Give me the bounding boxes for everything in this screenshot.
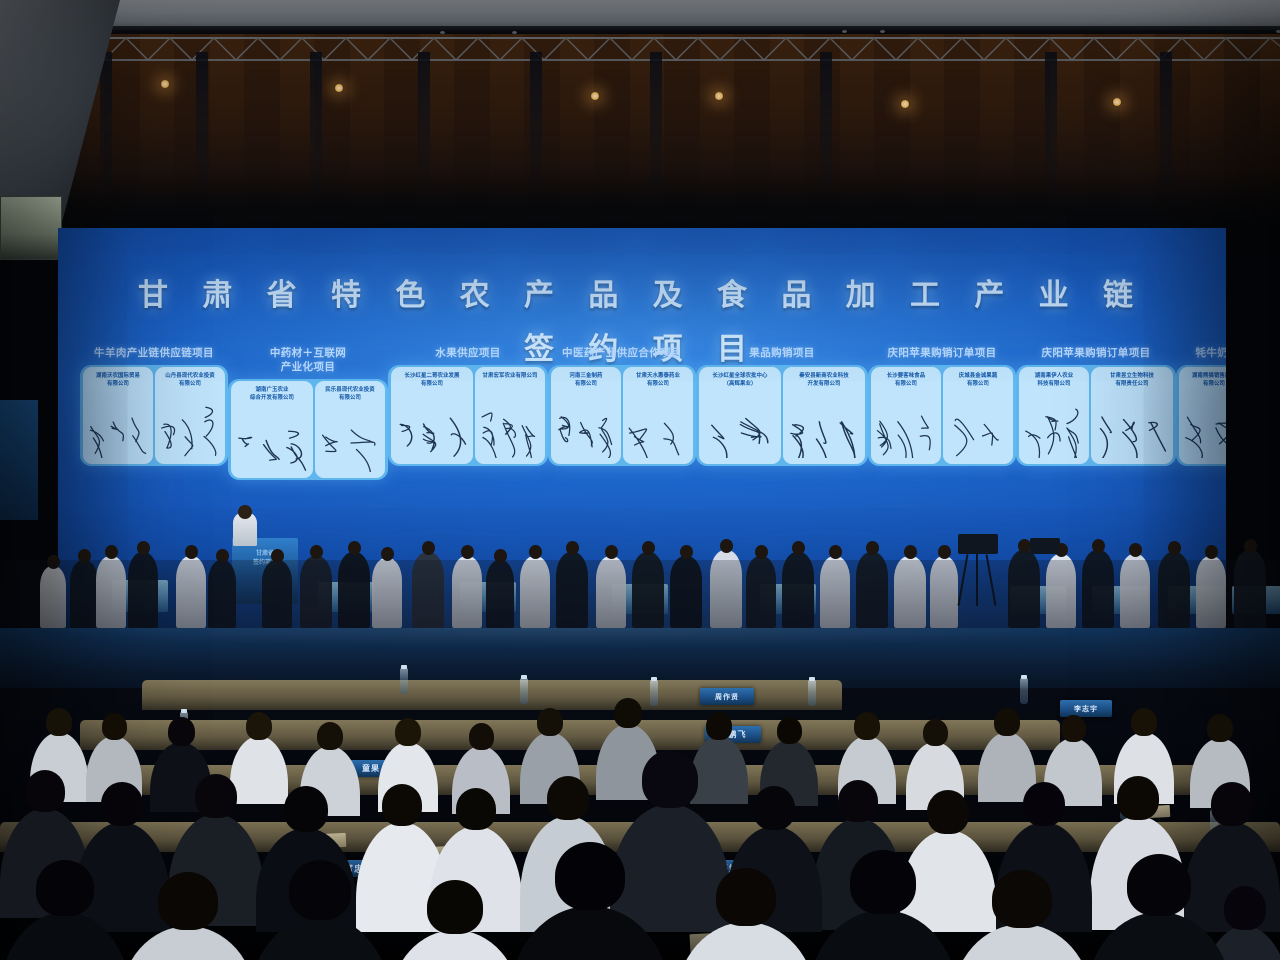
audience-person-head bbox=[469, 723, 494, 750]
stage-person-head bbox=[566, 541, 579, 555]
stage-person-head bbox=[755, 545, 768, 559]
company-name: 长沙要客味食品 有限公司 bbox=[884, 367, 928, 389]
audience-person-head bbox=[46, 708, 72, 736]
company-name: 甘肃天水惠泰药业 有限公司 bbox=[633, 367, 683, 389]
signature-pane: 湖南广玉农业 综合开发有限公司 bbox=[231, 381, 313, 478]
signature-card: 湖南果伊人农业 科技有限公司 甘肃昱立生物科技 有限责任公司 bbox=[1016, 365, 1176, 466]
handwritten-signature bbox=[871, 406, 941, 458]
group-title: 庆阳苹果购销订单项目 bbox=[1042, 346, 1151, 360]
stage-light-icon bbox=[334, 84, 344, 92]
audience-person-head bbox=[1224, 886, 1266, 930]
stage-person-head bbox=[938, 545, 951, 559]
audience-person-head bbox=[850, 850, 916, 914]
signing-group: 庆阳苹果购销订单项目湖南果伊人农业 科技有限公司 甘肃昱立生物科技 有限责任公司 bbox=[1016, 346, 1176, 466]
stage-person-head bbox=[348, 541, 361, 555]
handwritten-signature bbox=[1019, 406, 1089, 458]
company-name: 秦安县新商农业科技 开发有限公司 bbox=[796, 367, 851, 389]
handwritten-signature bbox=[623, 406, 693, 458]
signature-pane: 湖南沃农国际贸易 有限公司 bbox=[83, 367, 153, 464]
signature-card: 湖南广玉农业 综合开发有限公司 民乐县现代农业投资 有限公司 bbox=[228, 379, 388, 480]
ceiling-fixture-icon bbox=[842, 30, 847, 33]
audience-person-head bbox=[547, 776, 589, 820]
audience-person-head bbox=[716, 868, 776, 926]
drape bbox=[196, 52, 208, 192]
bottle-cap bbox=[401, 665, 407, 669]
stage-person-head bbox=[904, 545, 917, 559]
company-name: 湖南熊猫销售服务 有限公司 bbox=[1189, 367, 1226, 389]
audience-area: 童果姚富忠张靖曾鹏飞周作贤杨晓阳李志宇 bbox=[0, 560, 1280, 960]
signature-pane: 甘肃昱立生物科技 有限责任公司 bbox=[1091, 367, 1173, 464]
audience-person-head bbox=[246, 712, 272, 740]
signature-pane: 民乐县现代农业投资 有限公司 bbox=[315, 381, 385, 478]
audience-person-head bbox=[753, 786, 795, 830]
signature-pane: 湖南熊猫销售服务 有限公司 bbox=[1179, 367, 1226, 464]
handwritten-signature bbox=[1091, 406, 1173, 458]
handwritten-signature bbox=[315, 420, 385, 472]
drape bbox=[650, 52, 662, 192]
stage-person-head bbox=[792, 541, 805, 555]
drape bbox=[530, 52, 542, 192]
water-bottle bbox=[1020, 678, 1028, 704]
stage-light-icon bbox=[160, 80, 170, 88]
company-name: 河南三金制药 有限公司 bbox=[567, 367, 606, 389]
water-bottle bbox=[808, 680, 816, 706]
stage-light-icon bbox=[900, 100, 910, 108]
company-name: 湖南果伊人农业 科技有限公司 bbox=[1032, 367, 1076, 389]
group-title: 中医药产业供应合作项目 bbox=[562, 346, 682, 360]
audience-person-head bbox=[642, 750, 698, 808]
company-name: 湖南广玉农业 综合开发有限公司 bbox=[247, 381, 297, 403]
signature-pane: 河南三金制药 有限公司 bbox=[551, 367, 621, 464]
speaker-head bbox=[238, 505, 252, 519]
stage-person-head bbox=[1244, 539, 1257, 553]
signing-groups: 牛羊肉产业链供应链项目湖南沃农国际贸易 有限公司 山丹县现代农业投资 有限公司 … bbox=[80, 346, 1204, 506]
group-title: 庆阳苹果购销订单项目 bbox=[888, 346, 997, 360]
signing-group: 果品购销项目长沙红星全球农批中心 （高辉果业） 秦安县新商农业科技 开发有限公司 bbox=[696, 346, 868, 466]
stage-person-head bbox=[866, 541, 879, 555]
audience-person-head bbox=[537, 708, 563, 736]
audience-person-head bbox=[456, 788, 496, 830]
ceiling-fixture-icon bbox=[880, 30, 885, 33]
bottle-cap bbox=[181, 709, 187, 713]
stage-person-head bbox=[680, 545, 693, 559]
audience-person-head bbox=[36, 860, 94, 916]
stage-person-head bbox=[185, 545, 198, 559]
company-name: 庆城县金诚果蔬 有限公司 bbox=[956, 367, 1000, 389]
stage-person-head bbox=[1205, 545, 1218, 559]
handwritten-signature bbox=[391, 406, 473, 458]
signing-group: 庆阳苹果购销订单项目长沙要客味食品 有限公司 庆城县金诚果蔬 有限公司 bbox=[868, 346, 1016, 466]
name-placard: 周作贤 bbox=[700, 688, 754, 705]
audience-person-head bbox=[923, 719, 948, 746]
group-title: 水果供应项目 bbox=[435, 346, 500, 360]
group-title: 果品购销项目 bbox=[749, 346, 814, 360]
handwritten-signature bbox=[551, 406, 621, 458]
company-name: 长沙红星二哥农业发展 有限公司 bbox=[402, 367, 463, 389]
audience-person-head bbox=[992, 870, 1052, 928]
audience-person-head bbox=[1131, 708, 1157, 736]
stage-person-head bbox=[529, 545, 542, 559]
signing-group: 中药材＋互联网 产业化项目湖南广玉农业 综合开发有限公司 民乐县现代农业投资 有… bbox=[228, 346, 388, 480]
audience-person-head bbox=[168, 717, 195, 746]
drape bbox=[1045, 52, 1057, 192]
stage-light-icon bbox=[1112, 98, 1122, 106]
audience-person-head bbox=[101, 782, 143, 826]
audience-person-head bbox=[777, 717, 802, 744]
handwritten-signature bbox=[1179, 406, 1226, 458]
drape bbox=[100, 52, 112, 192]
bottle-cap bbox=[651, 677, 657, 681]
audience-person-head bbox=[284, 786, 328, 832]
title-line-1: 甘 肃 省 特 色 农 产 品 及 食 品 加 工 产 业 链 bbox=[58, 270, 1226, 314]
handwritten-signature bbox=[943, 406, 1013, 458]
signature-pane: 甘肃宏军农业有限公司 bbox=[475, 367, 545, 464]
audience-person-head bbox=[1207, 714, 1233, 742]
drape bbox=[820, 52, 832, 192]
signing-group: 中医药产业供应合作项目河南三金制药 有限公司 甘肃天水惠泰药业 有限公司 bbox=[548, 346, 696, 466]
signature-pane: 秦安县新商农业科技 开发有限公司 bbox=[783, 367, 865, 464]
stage-person-head bbox=[720, 539, 733, 553]
audience-person-head bbox=[25, 770, 65, 812]
audience-person-head bbox=[395, 718, 421, 746]
stage-person-head bbox=[605, 545, 618, 559]
company-name: 山丹县现代农业投资 有限公司 bbox=[162, 367, 217, 389]
audience-person-head bbox=[555, 842, 625, 910]
handwritten-signature bbox=[155, 406, 225, 458]
bottle-cap bbox=[809, 677, 815, 681]
company-name: 湖南沃农国际贸易 有限公司 bbox=[93, 367, 143, 389]
audience-person-head bbox=[382, 784, 422, 826]
signature-card: 长沙红星全球农批中心 （高辉果业） 秦安县新商农业科技 开发有限公司 bbox=[696, 365, 868, 466]
group-title: 牦牛奶粉购销协议项目 bbox=[1196, 346, 1227, 360]
audience-person-head bbox=[1023, 782, 1065, 826]
audience-person-head bbox=[1061, 715, 1086, 742]
tv-camera bbox=[958, 534, 998, 554]
signing-group: 牛羊肉产业链供应链项目湖南沃农国际贸易 有限公司 山丹县现代农业投资 有限公司 bbox=[80, 346, 228, 466]
audience-person-head bbox=[1117, 776, 1159, 820]
group-title: 牛羊肉产业链供应链项目 bbox=[94, 346, 214, 360]
audience-person-head bbox=[838, 780, 878, 822]
bottle-cap bbox=[1021, 675, 1027, 679]
group-title: 中药材＋互联网 产业化项目 bbox=[270, 346, 346, 374]
drape bbox=[1160, 52, 1172, 192]
handwritten-signature bbox=[699, 406, 781, 458]
lighting-truss bbox=[60, 36, 1280, 62]
stage-person-head bbox=[422, 541, 435, 555]
handwritten-signature bbox=[475, 406, 545, 458]
audience-person-head bbox=[1127, 854, 1191, 916]
signature-pane: 庆城县金诚果蔬 有限公司 bbox=[943, 367, 1013, 464]
stage-person-head bbox=[1092, 539, 1105, 553]
signature-pane: 长沙要客味食品 有限公司 bbox=[871, 367, 941, 464]
water-bottle bbox=[520, 678, 528, 704]
stage-light-icon bbox=[714, 92, 724, 100]
signing-group: 牦牛奶粉购销协议项目湖南熊猫销售服务 有限公司 甘肃华牛乳品股份 有限公司 bbox=[1176, 346, 1226, 466]
stage-person-head bbox=[461, 545, 474, 559]
signature-card: 长沙要客味食品 有限公司 庆城县金诚果蔬 有限公司 bbox=[868, 365, 1016, 466]
handwritten-signature bbox=[783, 406, 865, 458]
signature-pane: 长沙红星全球农批中心 （高辉果业） bbox=[699, 367, 781, 464]
audience-person-head bbox=[1211, 782, 1253, 826]
audience-person-head bbox=[195, 774, 237, 818]
handwritten-signature bbox=[83, 406, 153, 458]
audience-person-head bbox=[317, 722, 343, 750]
stage-person-head bbox=[642, 541, 655, 555]
signature-card: 湖南熊猫销售服务 有限公司 甘肃华牛乳品股份 有限公司 bbox=[1176, 365, 1226, 466]
left-window-panel bbox=[0, 196, 62, 260]
signature-card: 长沙红星二哥农业发展 有限公司 甘肃宏军农业有限公司 bbox=[388, 365, 548, 466]
audience-person-head bbox=[427, 880, 483, 934]
audience-person-head bbox=[706, 712, 732, 740]
audience-person-head bbox=[854, 712, 880, 740]
name-placard: 李志宇 bbox=[1060, 700, 1112, 717]
audience-person-head bbox=[994, 708, 1020, 736]
drape bbox=[310, 52, 322, 192]
audience-person-head bbox=[614, 698, 642, 728]
signature-pane: 山丹县现代农业投资 有限公司 bbox=[155, 367, 225, 464]
stage-light-icon bbox=[590, 92, 600, 100]
company-name: 甘肃宏军农业有限公司 bbox=[480, 367, 541, 381]
audience-person-head bbox=[102, 713, 127, 740]
stage-person-head bbox=[310, 545, 323, 559]
water-bottle bbox=[650, 680, 658, 706]
stage-person-head bbox=[381, 547, 394, 561]
company-name: 民乐县现代农业投资 有限公司 bbox=[322, 381, 377, 403]
bottle-cap bbox=[521, 675, 527, 679]
tv-camera bbox=[1030, 538, 1060, 554]
audience-person-head bbox=[158, 872, 218, 930]
left-blue-panel bbox=[0, 400, 38, 520]
signature-card: 河南三金制药 有限公司 甘肃天水惠泰药业 有限公司 bbox=[548, 365, 696, 466]
ceiling-fixture-icon bbox=[1276, 30, 1280, 33]
signature-pane: 甘肃天水惠泰药业 有限公司 bbox=[623, 367, 693, 464]
stage-person-head bbox=[1129, 543, 1142, 557]
stage-person-head bbox=[829, 545, 842, 559]
audience-person-head bbox=[289, 860, 351, 920]
signing-group: 水果供应项目长沙红星二哥农业发展 有限公司 甘肃宏军农业有限公司 bbox=[388, 346, 548, 466]
company-name: 长沙红星全球农批中心 （高辉果业） bbox=[710, 367, 771, 389]
signature-card: 湖南沃农国际贸易 有限公司 山丹县现代农业投资 有限公司 bbox=[80, 365, 228, 466]
stage-person-head bbox=[105, 545, 118, 559]
audience-person-head bbox=[927, 790, 969, 834]
water-bottle bbox=[400, 668, 408, 694]
signature-pane: 长沙红星二哥农业发展 有限公司 bbox=[391, 367, 473, 464]
stage-person-head bbox=[137, 541, 150, 555]
signature-pane: 湖南果伊人农业 科技有限公司 bbox=[1019, 367, 1089, 464]
handwritten-signature bbox=[231, 420, 313, 472]
stage-person-head bbox=[1168, 541, 1181, 555]
drape bbox=[418, 52, 430, 192]
company-name: 甘肃昱立生物科技 有限责任公司 bbox=[1107, 367, 1157, 389]
conference-hall-photo: 甘 肃 省 特 色 农 产 品 及 食 品 加 工 产 业 链 签 约 项 目 … bbox=[0, 0, 1280, 960]
